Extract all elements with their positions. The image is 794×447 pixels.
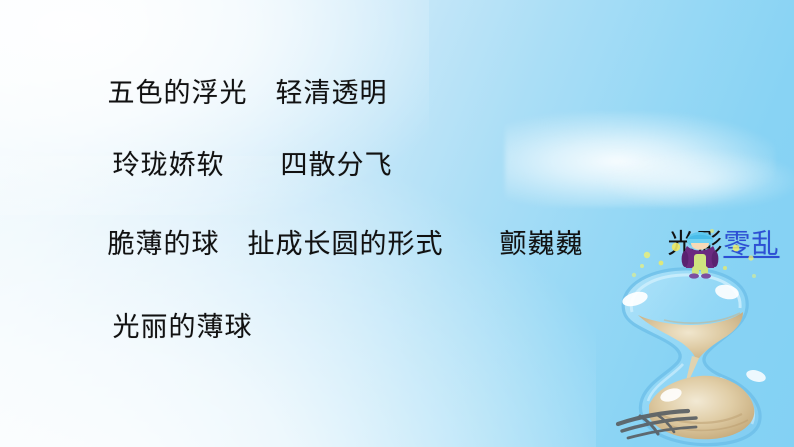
poem-text: 五色的浮光 xyxy=(108,78,248,108)
poem-gap xyxy=(225,150,281,180)
slide-canvas: 五色的浮光 轻清透明 玲珑娇软 四散分飞 脆薄的球 扯成长圆的形式 颤巍巍 光影… xyxy=(0,0,794,447)
poem-gap xyxy=(248,78,276,108)
poem-gap xyxy=(584,229,668,259)
poem-text: 光影 xyxy=(668,229,724,259)
poem-text: 脆薄的球 xyxy=(108,229,220,259)
poem-text: 玲珑娇软 xyxy=(113,150,225,180)
poem-gap xyxy=(444,229,500,259)
poem-emphasis-word: 零乱 xyxy=(724,229,780,259)
poem-gap xyxy=(220,229,248,259)
poem-line-4: 光丽的薄球 xyxy=(66,276,253,378)
poem-text: 光丽的薄球 xyxy=(113,312,253,342)
poem-text: 四散分飞 xyxy=(281,150,393,180)
poem-text: 轻清透明 xyxy=(276,78,388,108)
poem-text: 颤巍巍 xyxy=(500,229,584,259)
poem-text: 扯成长圆的形式 xyxy=(248,229,444,259)
